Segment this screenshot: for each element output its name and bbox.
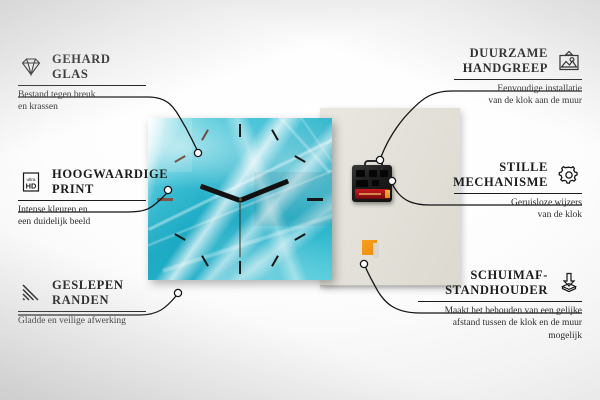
- feature-title: HOOGWAARDIGE PRINT: [52, 167, 168, 197]
- feature-stille-mechanisme[interactable]: STILLE MECHANISME Geruisloze wijzers van…: [454, 160, 582, 222]
- feature-underline: [18, 311, 146, 312]
- feature-header: SCHUIMAF- STANDHOUDER: [418, 268, 582, 298]
- mechanism-slot: [369, 170, 377, 177]
- desc-line-1: Bestand tegen breuk: [18, 89, 146, 102]
- feature-description: Intense kleuren en een duidelijk beeld: [18, 204, 146, 229]
- feature-underline: [18, 200, 146, 201]
- feature-title: STILLE MECHANISME: [453, 160, 548, 190]
- title-line-2: HANDGREEP: [463, 61, 548, 76]
- title-line-1: SCHUIMAF-: [445, 268, 548, 283]
- glass-clock-face: [148, 118, 332, 280]
- feature-header: ultra HD HOOGWAARDIGE PRINT: [18, 167, 146, 197]
- desc-line-2: afstand tussen de klok en de muur mogeli…: [418, 317, 582, 342]
- feature-header: STILLE MECHANISME: [454, 160, 582, 190]
- feature-underline: [418, 301, 582, 302]
- glass-reflection: [148, 118, 332, 280]
- ultra-hd-icon: ultra HD: [18, 171, 44, 193]
- feature-schuimafstandhouder[interactable]: SCHUIMAF- STANDHOUDER Maakt het behouden…: [418, 268, 582, 342]
- desc-line-1: Gladde en veilige afwerking: [18, 315, 146, 328]
- feature-title: DUURZAME HANDGREEP: [463, 46, 548, 76]
- feature-title: GEHARD GLAS: [52, 52, 110, 82]
- feature-description: Bestand tegen breuk en krassen: [18, 89, 146, 114]
- mechanism-slot: [372, 180, 379, 186]
- feature-header: GEHARD GLAS: [18, 52, 146, 82]
- feature-title: SCHUIMAF- STANDHOUDER: [445, 268, 548, 298]
- title-line-2: MECHANISME: [453, 175, 548, 190]
- feature-title: GESLEPEN RANDEN: [52, 278, 124, 308]
- title-line-1: DUURZAME: [463, 46, 548, 61]
- title-line-1: GEHARD: [52, 52, 110, 67]
- feature-header: DUURZAME HANDGREEP: [454, 46, 582, 76]
- mechanism-slot: [356, 180, 368, 187]
- product-feature-infographic: GEHARD GLAS Bestand tegen breuk en krass…: [0, 0, 600, 400]
- desc-line-2: van de klok aan de muur: [454, 95, 582, 108]
- download-stack-icon: [556, 272, 582, 294]
- feature-hoogwaardige-print[interactable]: ultra HD HOOGWAARDIGE PRINT Intense kleu…: [18, 167, 146, 229]
- feature-description: Maakt het behouden van een gelijke afsta…: [418, 305, 582, 343]
- diagonal-lines-icon: [18, 282, 44, 304]
- title-line-2: PRINT: [52, 182, 168, 197]
- diamond-icon: [18, 56, 44, 78]
- feature-underline: [454, 193, 582, 194]
- desc-line-2: een duidelijk beeld: [18, 216, 146, 229]
- title-line-1: GESLEPEN: [52, 278, 124, 293]
- title-line-2: STANDHOUDER: [445, 283, 548, 298]
- feature-description: Eenvoudige installatie van de klok aan d…: [454, 83, 582, 108]
- title-line-1: HOOGWAARDIGE: [52, 167, 168, 182]
- feature-duurzame-handgreep[interactable]: DUURZAME HANDGREEP Eenvoudige installati…: [454, 46, 582, 108]
- feature-description: Geruisloze wijzers van de klok: [454, 197, 582, 222]
- desc-line-2: van de klok: [454, 209, 582, 222]
- feature-gehard-glas[interactable]: GEHARD GLAS Bestand tegen breuk en krass…: [18, 52, 146, 114]
- feature-underline: [18, 85, 146, 86]
- clock-mechanism-box: [352, 165, 392, 202]
- desc-line-1: Eenvoudige installatie: [454, 83, 582, 96]
- gear-icon: [556, 164, 582, 186]
- desc-line-2: en krassen: [18, 101, 146, 114]
- feature-header: GESLEPEN RANDEN: [18, 278, 146, 308]
- title-line-2: GLAS: [52, 67, 110, 82]
- desc-line-1: Intense kleuren en: [18, 204, 146, 217]
- mechanism-slot: [356, 170, 365, 177]
- battery-label: [359, 193, 381, 195]
- product-image: [140, 100, 360, 290]
- battery: [355, 189, 389, 199]
- foam-spacer: [362, 240, 377, 255]
- feature-description: Gladde en veilige afwerking: [18, 315, 146, 328]
- svg-text:HD: HD: [26, 181, 37, 190]
- feature-underline: [454, 79, 582, 80]
- picture-frame-icon: [556, 50, 582, 72]
- mechanism-hanger: [364, 160, 383, 170]
- mechanism-slot: [380, 170, 388, 177]
- title-line-2: RANDEN: [52, 293, 124, 308]
- marker-geslepen-randen: [174, 289, 181, 296]
- desc-line-1: Maakt het behouden van een gelijke: [418, 305, 582, 318]
- desc-line-1: Geruisloze wijzers: [454, 197, 582, 210]
- feature-geslepen-randen[interactable]: GESLEPEN RANDEN Gladde en veilige afwerk…: [18, 278, 146, 327]
- title-line-1: STILLE: [453, 160, 548, 175]
